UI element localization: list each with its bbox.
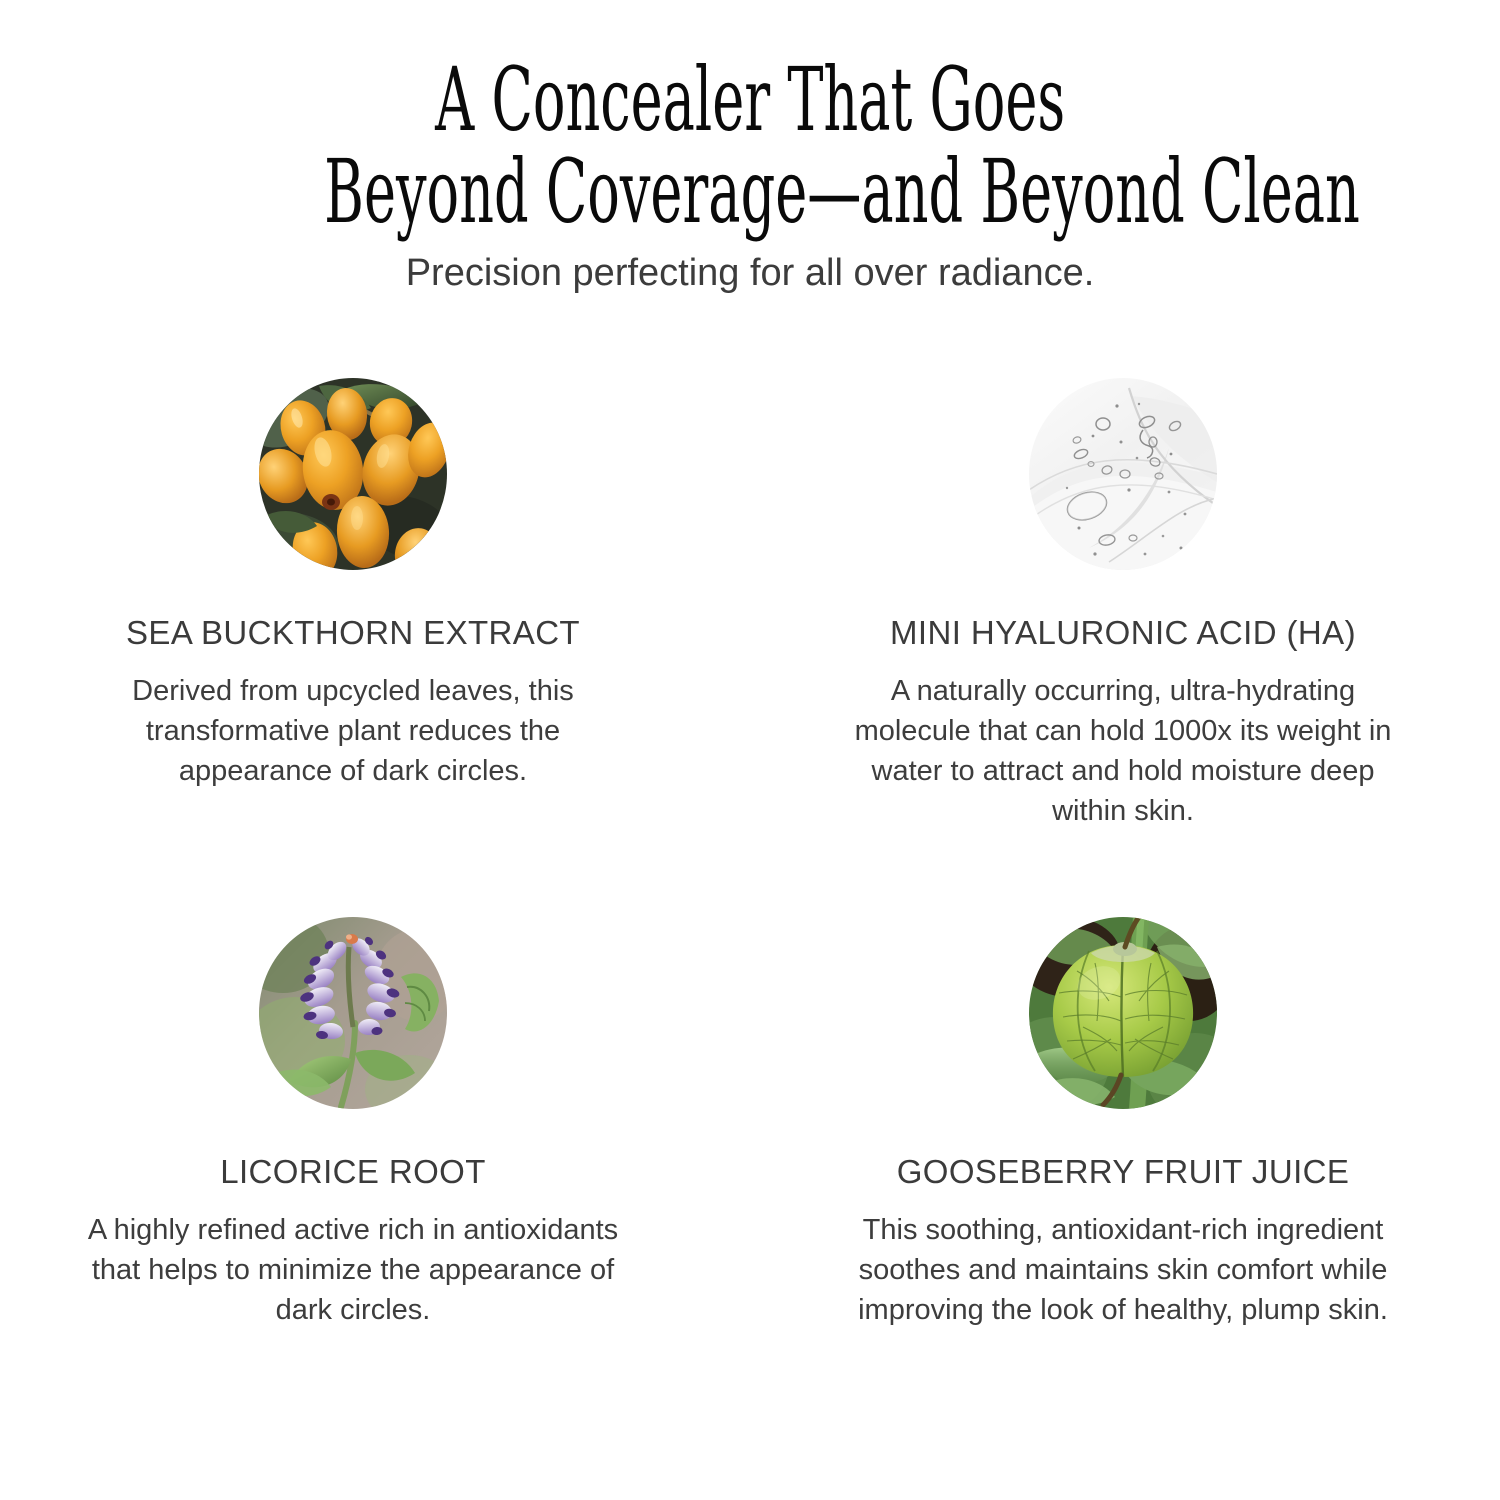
page-title-line-2: Beyond Coverage—and Beyond Clean — [324, 146, 1360, 238]
gooseberry-husk-fruit-photo-icon — [1029, 917, 1217, 1109]
page-title-line-1: A Concealer That Goes — [435, 54, 1065, 146]
ingredient-card-licorice-root: LICORICE ROOT A highly refined active ri… — [0, 917, 750, 1330]
ingredient-description: A highly refined active rich in antioxid… — [68, 1210, 638, 1330]
page-subtitle: Precision perfecting for all over radian… — [0, 248, 1500, 298]
ingredient-description: This soothing, antioxidant-rich ingredie… — [838, 1210, 1408, 1330]
ingredient-description: A naturally occurring, ultra-hydrating m… — [838, 671, 1408, 831]
ingredient-benefits-panel: A Concealer That Goes Beyond Coverage—an… — [0, 0, 1500, 1500]
ingredient-title: MINI HYALURONIC ACID (HA) — [890, 615, 1356, 651]
hyaluronic-acid-gel-texture-photo-icon — [1029, 378, 1217, 570]
ingredient-grid: SEA BUCKTHORN EXTRACT Derived from upcyc… — [0, 378, 1500, 1330]
ingredient-card-gooseberry-fruit-juice: GOOSEBERRY FRUIT JUICE This soothing, an… — [750, 917, 1500, 1330]
licorice-root-flower-photo-icon — [259, 917, 447, 1109]
sea-buckthorn-berries-photo-icon — [259, 378, 447, 570]
ingredient-title: LICORICE ROOT — [220, 1154, 486, 1190]
ingredient-description: Derived from upcycled leaves, this trans… — [68, 671, 638, 791]
page-title: A Concealer That Goes Beyond Coverage—an… — [0, 54, 1500, 238]
ingredient-card-mini-hyaluronic-acid: MINI HYALURONIC ACID (HA) A naturally oc… — [750, 378, 1500, 831]
ingredient-title: SEA BUCKTHORN EXTRACT — [126, 615, 580, 651]
ingredient-card-sea-buckthorn-extract: SEA BUCKTHORN EXTRACT Derived from upcyc… — [0, 378, 750, 831]
ingredient-title: GOOSEBERRY FRUIT JUICE — [897, 1154, 1350, 1190]
